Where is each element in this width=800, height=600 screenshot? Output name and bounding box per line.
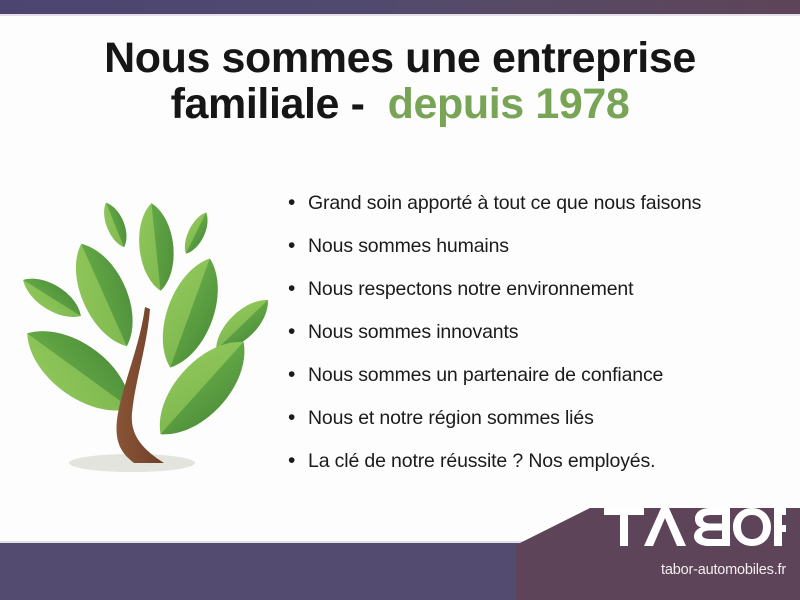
bullet-marker-icon: • [288, 364, 308, 385]
list-item: • Grand soin apporté à tout ce que nous … [288, 192, 788, 235]
title-line-2-accent: depuis 1978 [388, 80, 630, 128]
list-item-label: Nous et notre région sommes liés [308, 407, 594, 430]
leaf-top-small-right [179, 209, 213, 257]
bullet-marker-icon: • [288, 321, 308, 342]
bullet-marker-icon: • [288, 192, 308, 213]
leaf-top-center [135, 201, 178, 292]
list-item: • Nous et notre région sommes liés [288, 407, 788, 450]
list-item-label: La clé de notre réussite ? Nos employés. [308, 450, 655, 473]
list-item: • Nous sommes humains [288, 235, 788, 278]
list-item: • Nous sommes un partenaire de confiance [288, 364, 788, 407]
leaf-top-small-left [98, 199, 132, 250]
list-item-label: Grand soin apporté à tout ce que nous fa… [308, 192, 701, 215]
list-item-label: Nous respectons notre environnement [308, 278, 633, 301]
bullet-marker-icon: • [288, 450, 308, 471]
leaf-lower-right [142, 325, 262, 451]
title-line-2: familiale - depuis 1978 [0, 82, 800, 128]
top-accent-bar-hairline [0, 14, 800, 16]
list-item: • La clé de notre réussite ? Nos employé… [288, 450, 788, 493]
bullet-marker-icon: • [288, 278, 308, 299]
value-bullet-list: • Grand soin apporté à tout ce que nous … [288, 192, 788, 493]
title-line-1: Nous sommes une entreprise [0, 36, 800, 82]
tree-illustration [14, 185, 278, 481]
title-line-2-plain: familiale - [171, 80, 365, 128]
list-item-label: Nous sommes humains [308, 235, 509, 258]
bullet-marker-icon: • [288, 407, 308, 428]
page-title: Nous sommes une entreprise familiale - d… [0, 36, 800, 127]
logo-url-label: tabor-automobiles.fr [604, 562, 786, 578]
top-accent-bar [0, 0, 800, 14]
tabor-logo [604, 508, 786, 546]
list-item-label: Nous sommes innovants [308, 321, 518, 344]
list-item: • Nous sommes innovants [288, 321, 788, 364]
leaf-upper-left [61, 235, 147, 355]
slide-canvas: Nous sommes une entreprise familiale - d… [0, 0, 800, 600]
list-item-label: Nous sommes un partenaire de confiance [308, 364, 663, 387]
list-item: • Nous respectons notre environnement [288, 278, 788, 321]
bullet-marker-icon: • [288, 235, 308, 256]
